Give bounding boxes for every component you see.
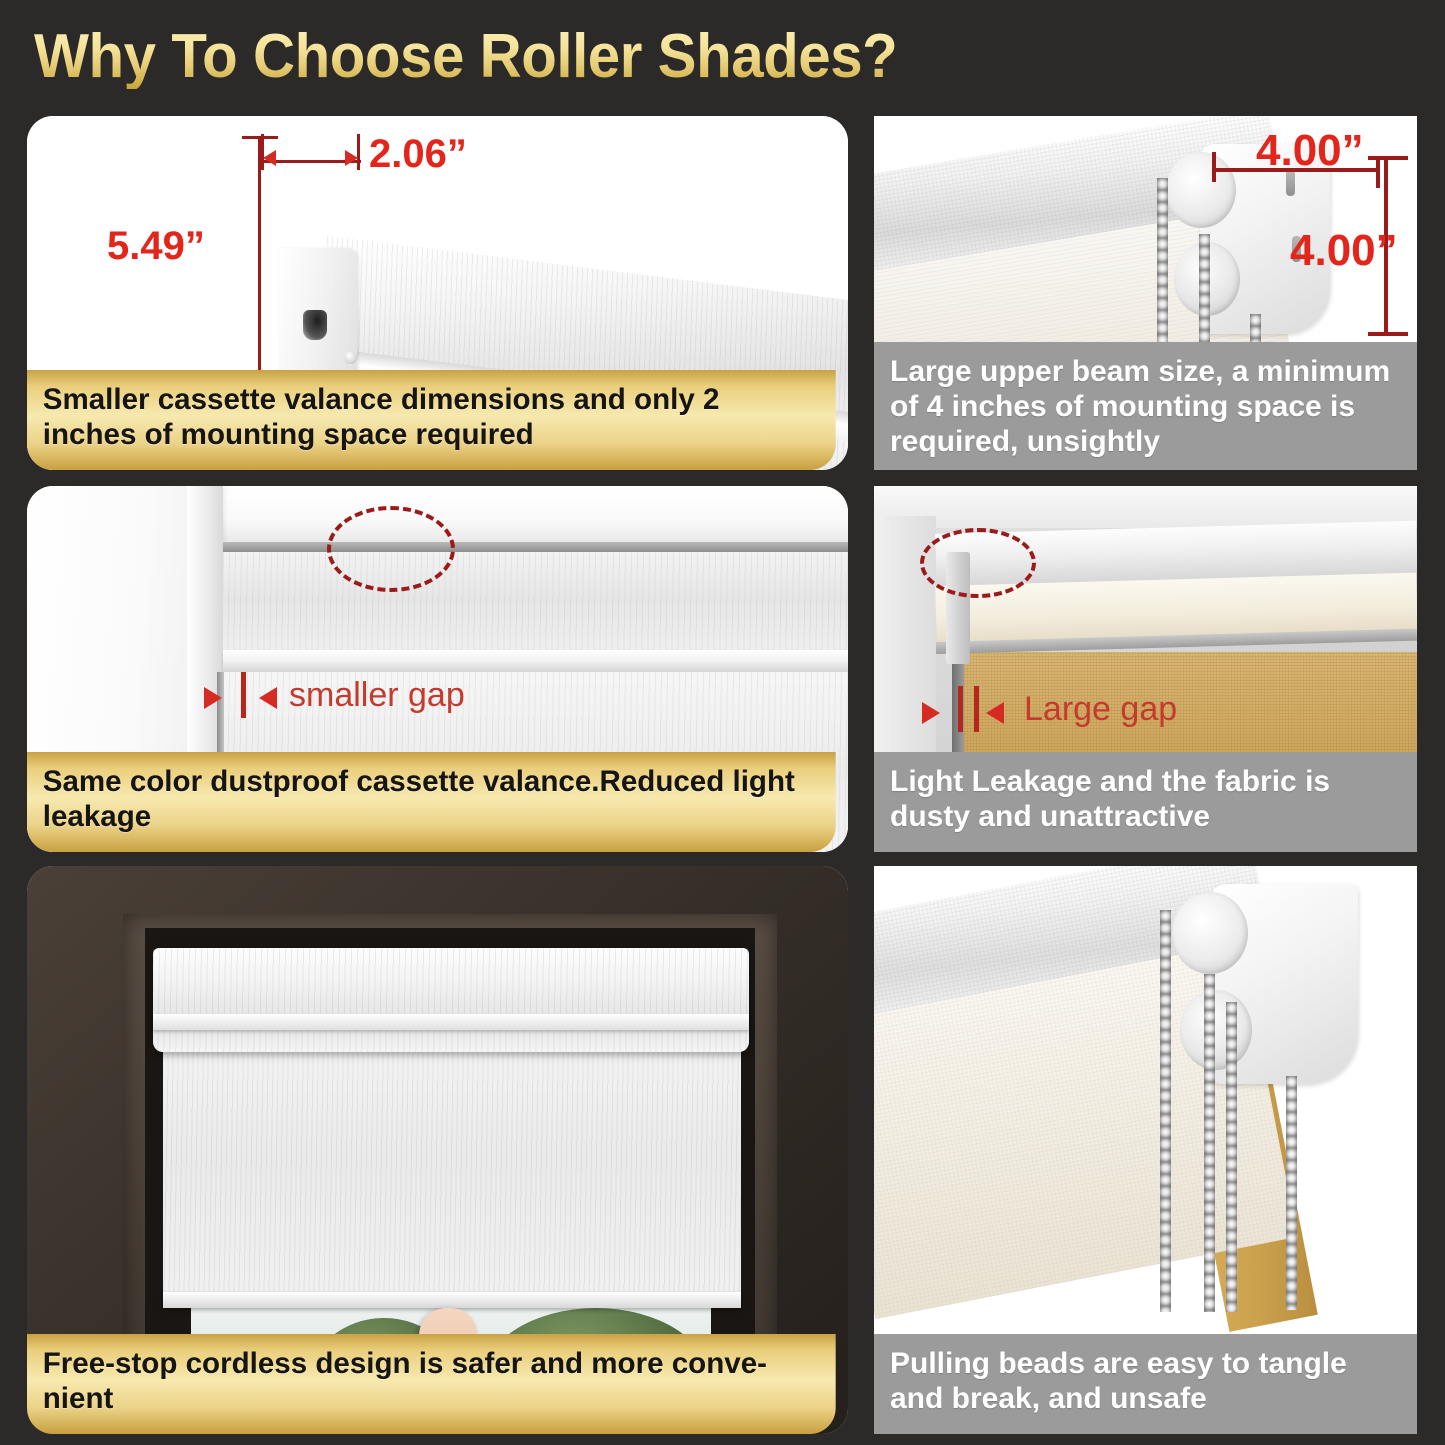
panel-5-caption: Free-stop cordless design is safer and m… [27, 1334, 836, 1434]
shade-upper-panel [223, 552, 848, 650]
roll-cap-lower [1180, 990, 1252, 1070]
height-tick-top [242, 136, 278, 139]
panel-2-caption: Large upper beam size, a minimum of 4 in… [874, 342, 1417, 470]
gap-arrow-right-icon [986, 702, 1004, 724]
shade-bottom-rail [163, 1292, 741, 1308]
beam-height-label: 4.00” [1290, 226, 1398, 276]
panel-6-caption: Pulling beads are easy to tangle and bre… [874, 1334, 1417, 1434]
gap-arrow-right-icon [259, 687, 277, 709]
panel-1-caption: Smaller cassette valance dimensions and … [27, 370, 836, 470]
shade-mid-rail [223, 650, 848, 672]
panel-large-beam: 4.00” 4.00” Large upper beam size, a min… [874, 116, 1417, 470]
panel-4-caption: Light Leakage and the fabric is dusty an… [874, 752, 1417, 852]
gap-arrow-left-icon [204, 687, 222, 709]
shade-top-rail [223, 542, 848, 552]
gap-marker-bar-left [958, 686, 963, 732]
cassette-valance [153, 948, 749, 1052]
height-dimension-label: 5.49” [107, 224, 205, 269]
cassette-screw-upper [344, 351, 357, 364]
beam-height-tick-bottom [1368, 332, 1408, 336]
comparison-grid: 2.06” 5.49” Smaller cassette valance dim… [0, 104, 1445, 1445]
highlight-ellipse-icon [920, 528, 1036, 598]
highlight-ellipse-icon [327, 506, 455, 592]
bead-chain-right [1286, 1076, 1297, 1310]
beam-width-tick-left [1212, 152, 1216, 182]
infographic-poster: Why To Choose Roller Shades? 2.06” [0, 0, 1445, 1445]
width-dimension-label: 2.06” [369, 132, 467, 177]
beam-height-tick-top [1368, 156, 1408, 160]
roll-cap-upper [1172, 892, 1248, 974]
page-title: Why To Choose Roller Shades? [34, 18, 1414, 96]
gap-arrow-left-icon [922, 702, 940, 724]
page-title-text: Why To Choose Roller Shades? [34, 25, 897, 89]
gap-callout-label: Large gap [1024, 690, 1177, 729]
bead-chain-mid [1204, 974, 1215, 1312]
width-arrow-right [345, 150, 358, 166]
panel-pulling-beads: Pulling beads are easy to tangle and bre… [874, 866, 1417, 1434]
panel-large-gap: Large gap Light Leakage and the fabric i… [874, 486, 1417, 852]
gap-callout-label: smaller gap [289, 676, 465, 715]
ceiling-strip [874, 486, 1417, 528]
panel-smaller-cassette: 2.06” 5.49” Smaller cassette valance dim… [27, 116, 848, 470]
shade-fabric-body [163, 1036, 741, 1308]
panel-smaller-gap: smaller gap Same color dustproof cassett… [27, 486, 848, 852]
bead-chain-left [1160, 910, 1171, 1312]
beam-roll-cap-upper [1166, 152, 1236, 228]
valance-rail [153, 1014, 749, 1030]
beam-width-tick-right [1376, 158, 1380, 188]
panel-3-caption: Same color dustproof cassette valance.Re… [27, 752, 836, 852]
bead-chain-mid2 [1226, 1002, 1237, 1312]
beam-width-label: 4.00” [1256, 126, 1364, 176]
gap-marker-bar-right [974, 686, 979, 732]
window-head-jamb [187, 486, 848, 544]
gap-marker-bar [241, 672, 246, 718]
panel-cordless-design: Free-stop cordless design is safer and m… [27, 866, 848, 1434]
width-arrow-left [263, 150, 276, 166]
